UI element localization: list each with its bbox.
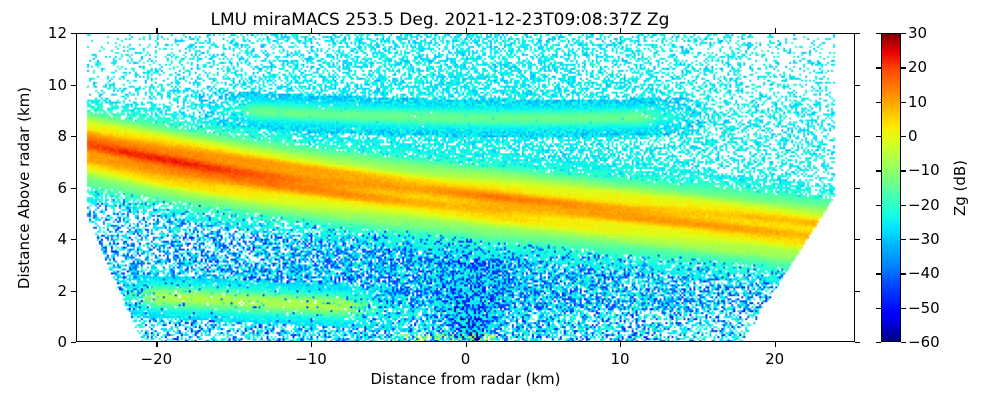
x-tick-mark: [466, 28, 467, 33]
y-tick-mark: [855, 188, 860, 189]
y-tick-mark: [71, 188, 76, 189]
y-tick-mark: [71, 291, 76, 292]
y-axis-label: Distance Above radar (km): [14, 33, 34, 342]
x-axis-label: Distance from radar (km): [76, 370, 855, 388]
page-title: LMU miraMACS 253.5 Deg. 2021-12-23T09:08…: [0, 10, 880, 30]
radar-reflectivity-heatmap: [77, 34, 854, 341]
y-tick-mark: [855, 85, 860, 86]
x-tick-mark: [311, 28, 312, 33]
y-tick-mark: [71, 239, 76, 240]
y-tick-mark: [855, 291, 860, 292]
plot-axes: [76, 33, 855, 342]
colorbar-tick-mark: [876, 308, 881, 309]
colorbar-tick-mark: [901, 205, 906, 206]
colorbar-tick-label: −40: [908, 264, 940, 282]
y-axis-label-text: Distance Above radar (km): [15, 86, 33, 288]
y-tick-mark: [71, 85, 76, 86]
colorbar-tick-label: 0: [908, 127, 918, 145]
colorbar: [881, 33, 901, 342]
x-tick-label: 0: [461, 350, 471, 368]
colorbar-tick-label: −20: [908, 196, 940, 214]
x-tick-label: 10: [611, 350, 630, 368]
colorbar-tick-mark: [876, 67, 881, 68]
colorbar-tick-label: −30: [908, 230, 940, 248]
colorbar-label: Zg (dB): [950, 33, 970, 342]
colorbar-tick-mark: [901, 67, 906, 68]
colorbar-tick-mark: [901, 170, 906, 171]
y-tick-mark: [71, 136, 76, 137]
colorbar-tick-mark: [876, 205, 881, 206]
x-tick-mark: [156, 342, 157, 347]
colorbar-tick-mark: [901, 342, 906, 343]
y-tick-mark: [855, 136, 860, 137]
colorbar-tick-mark: [876, 239, 881, 240]
colorbar-tick-mark: [876, 170, 881, 171]
colorbar-tick-label: 20: [908, 58, 927, 76]
colorbar-tick-label: −10: [908, 161, 940, 179]
x-tick-label: −10: [295, 350, 327, 368]
x-tick-mark: [775, 28, 776, 33]
colorbar-tick-mark: [901, 273, 906, 274]
colorbar-tick-mark: [876, 102, 881, 103]
x-tick-mark: [466, 342, 467, 347]
x-tick-mark: [156, 28, 157, 33]
y-tick-mark: [71, 33, 76, 34]
colorbar-tick-mark: [901, 239, 906, 240]
colorbar-label-text: Zg (dB): [951, 159, 969, 215]
colorbar-tick-label: 30: [908, 24, 927, 42]
x-tick-mark: [620, 342, 621, 347]
colorbar-tick-label: −60: [908, 333, 940, 351]
y-tick-mark: [71, 342, 76, 343]
y-tick-mark: [855, 239, 860, 240]
colorbar-tick-mark: [901, 102, 906, 103]
colorbar-tick-label: 10: [908, 93, 927, 111]
colorbar-tick-mark: [876, 273, 881, 274]
x-tick-label: −20: [141, 350, 173, 368]
x-tick-mark: [775, 342, 776, 347]
y-tick-mark: [855, 33, 860, 34]
colorbar-tick-mark: [901, 308, 906, 309]
x-tick-mark: [620, 28, 621, 33]
colorbar-tick-mark: [876, 33, 881, 34]
colorbar-tick-mark: [901, 33, 906, 34]
radar-rhi-figure: LMU miraMACS 253.5 Deg. 2021-12-23T09:08…: [0, 0, 1000, 400]
x-tick-mark: [311, 342, 312, 347]
colorbar-tick-label: −50: [908, 299, 940, 317]
x-tick-label: 20: [765, 350, 784, 368]
y-tick-mark: [855, 342, 860, 343]
colorbar-tick-mark: [901, 136, 906, 137]
colorbar-tick-mark: [876, 136, 881, 137]
colorbar-tick-mark: [876, 342, 881, 343]
